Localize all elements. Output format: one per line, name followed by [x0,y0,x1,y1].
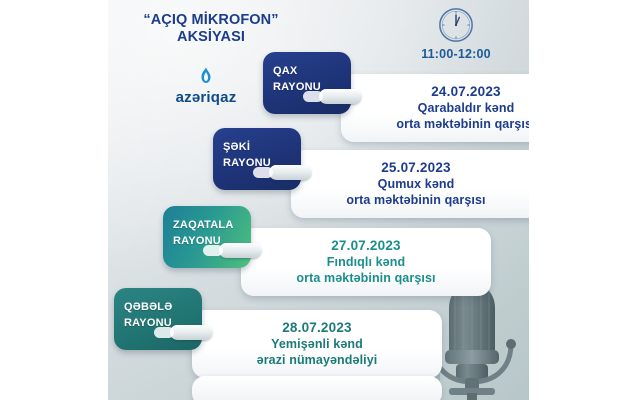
region-name: QƏBƏLƏ [124,299,196,315]
connector-nub-icon [170,325,212,340]
brand-logo: azəriqaz [146,66,266,106]
clock-icon [437,6,475,44]
event-place-line-1: Qarabaldır kənd [349,100,529,116]
schedule-row: 24.07.2023 Qarabaldır kənd orta məktəbin… [263,52,351,114]
region-tag: ŞƏKİ RAYONU [213,128,301,190]
page-title: “AÇIQ MİKROFON” AKSİYASI [116,12,306,46]
region-name: ŞƏKİ [223,139,295,155]
event-place-line-2: orta məktəbinin qarşısı [249,270,483,286]
region-tag: QAX RAYONU [263,52,351,114]
event-date: 25.07.2023 [299,159,529,176]
time-range-label: 11:00-12:00 [396,47,516,61]
region-name: QAX [273,63,345,79]
time-block: 11:00-12:00 [396,6,516,61]
event-place-line-2: ərazi nümayəndəliyi [200,352,434,368]
page-title-line-1: “AÇIQ MİKROFON” [116,12,306,29]
schedule-row: 25.07.2023 Qumux kənd orta məktəbinin qa… [213,128,301,190]
event-place-line-1: Fındıqlı kənd [249,254,483,270]
event-date: 27.07.2023 [249,237,483,254]
event-place-line-1: Yemişənli kənd [200,336,434,352]
event-date: 24.07.2023 [349,83,529,100]
schedule-card: 25.07.2023 Qumux kənd orta məktəbinin qa… [291,150,529,218]
screenshot-canvas: “AÇIQ MİKROFON” AKSİYASI azəriqaz [0,0,637,400]
poster-image: “AÇIQ MİKROFON” AKSİYASI azəriqaz [108,0,529,400]
page-title-line-2: AKSİYASI [116,29,306,46]
brand-name: azəriqaz [146,89,266,106]
gas-flame-icon [146,66,266,86]
schedule-card-partial [192,376,442,400]
connector-nub-icon [269,165,311,180]
schedule-row: 28.07.2023 Yemişənli kənd ərazi nümayənd… [114,288,202,350]
schedule-card: 27.07.2023 Fındıqlı kənd orta məktəbinin… [241,228,491,296]
region-tag: QƏBƏLƏ RAYONU [114,288,202,350]
schedule-card: 28.07.2023 Yemişənli kənd ərazi nümayənd… [192,310,442,378]
schedule-card: 24.07.2023 Qarabaldır kənd orta məktəbin… [341,74,529,142]
event-place-line-1: Qumux kənd [299,176,529,192]
schedule-row: 27.07.2023 Fındıqlı kənd orta məktəbinin… [163,206,251,268]
event-date: 28.07.2023 [200,319,434,336]
region-name: ZAQATALA [173,217,245,233]
event-place-line-2: orta məktəbinin qarşısı [349,116,529,132]
connector-nub-icon [219,243,261,258]
region-tag: ZAQATALA RAYONU [163,206,251,268]
connector-nub-icon [319,89,361,104]
event-place-line-2: orta məktəbinin qarşısı [299,192,529,208]
